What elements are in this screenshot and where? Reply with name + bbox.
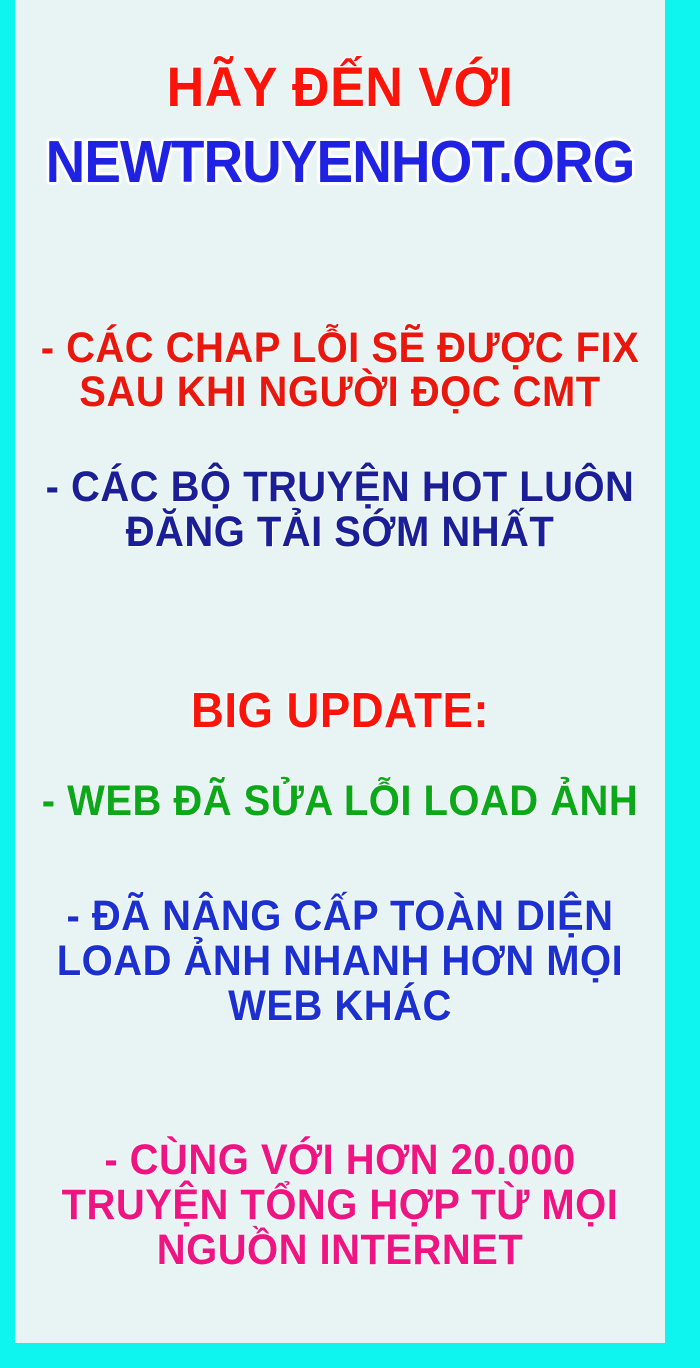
- big-update-title: BIG UPDATE:: [38, 686, 643, 737]
- update-green-block: - WEB ĐÃ SỬA LỖI LOAD ẢNH: [15, 779, 665, 824]
- update-blue-line-3: WEB KHÁC: [38, 984, 643, 1029]
- site-url-text[interactable]: NEWTRUYENHOT.ORG: [38, 132, 643, 193]
- notice-red-line-1: - CÁC CHAP LỖI SẼ ĐƯỢC FIX: [38, 326, 643, 371]
- update-pink-line-1: - CÙNG VỚI HƠN 20.000: [38, 1138, 643, 1183]
- promo-banner: HÃY ĐẾN VỚI NEWTRUYENHOT.ORG - CÁC CHAP …: [0, 0, 700, 1368]
- headline-line-1: HÃY ĐẾN VỚI: [38, 58, 643, 116]
- update-blue-line-1: - ĐÃ NÂNG CẤP TOÀN DIỆN: [38, 894, 643, 939]
- update-pink-line-2: TRUYỆN TỔNG HỢP TỪ MỌI: [38, 1183, 643, 1228]
- notice-red-block: - CÁC CHAP LỖI SẼ ĐƯỢC FIX SAU KHI NGƯỜI…: [15, 326, 665, 415]
- notice-navy-block: - CÁC BỘ TRUYỆN HOT LUÔN ĐĂNG TẢI SỚM NH…: [15, 465, 665, 554]
- update-pink-block: - CÙNG VỚI HƠN 20.000 TRUYỆN TỔNG HỢP TỪ…: [15, 1138, 665, 1272]
- notice-navy-line-1: - CÁC BỘ TRUYỆN HOT LUÔN: [38, 465, 643, 510]
- headline-block: HÃY ĐẾN VỚI NEWTRUYENHOT.ORG: [15, 58, 665, 194]
- update-pink-line-3: NGUỒN INTERNET: [38, 1228, 643, 1273]
- update-green-line-1: - WEB ĐÃ SỬA LỖI LOAD ẢNH: [38, 779, 643, 824]
- update-blue-line-2: LOAD ẢNH NHANH HƠN MỌI: [38, 939, 643, 984]
- notice-red-line-2: SAU KHI NGƯỜI ĐỌC CMT: [38, 370, 643, 415]
- banner-panel: HÃY ĐẾN VỚI NEWTRUYENHOT.ORG - CÁC CHAP …: [15, 0, 665, 1343]
- notice-navy-line-2: ĐĂNG TẢI SỚM NHẤT: [38, 510, 643, 555]
- update-blue-block: - ĐÃ NÂNG CẤP TOÀN DIỆN LOAD ẢNH NHANH H…: [15, 894, 665, 1028]
